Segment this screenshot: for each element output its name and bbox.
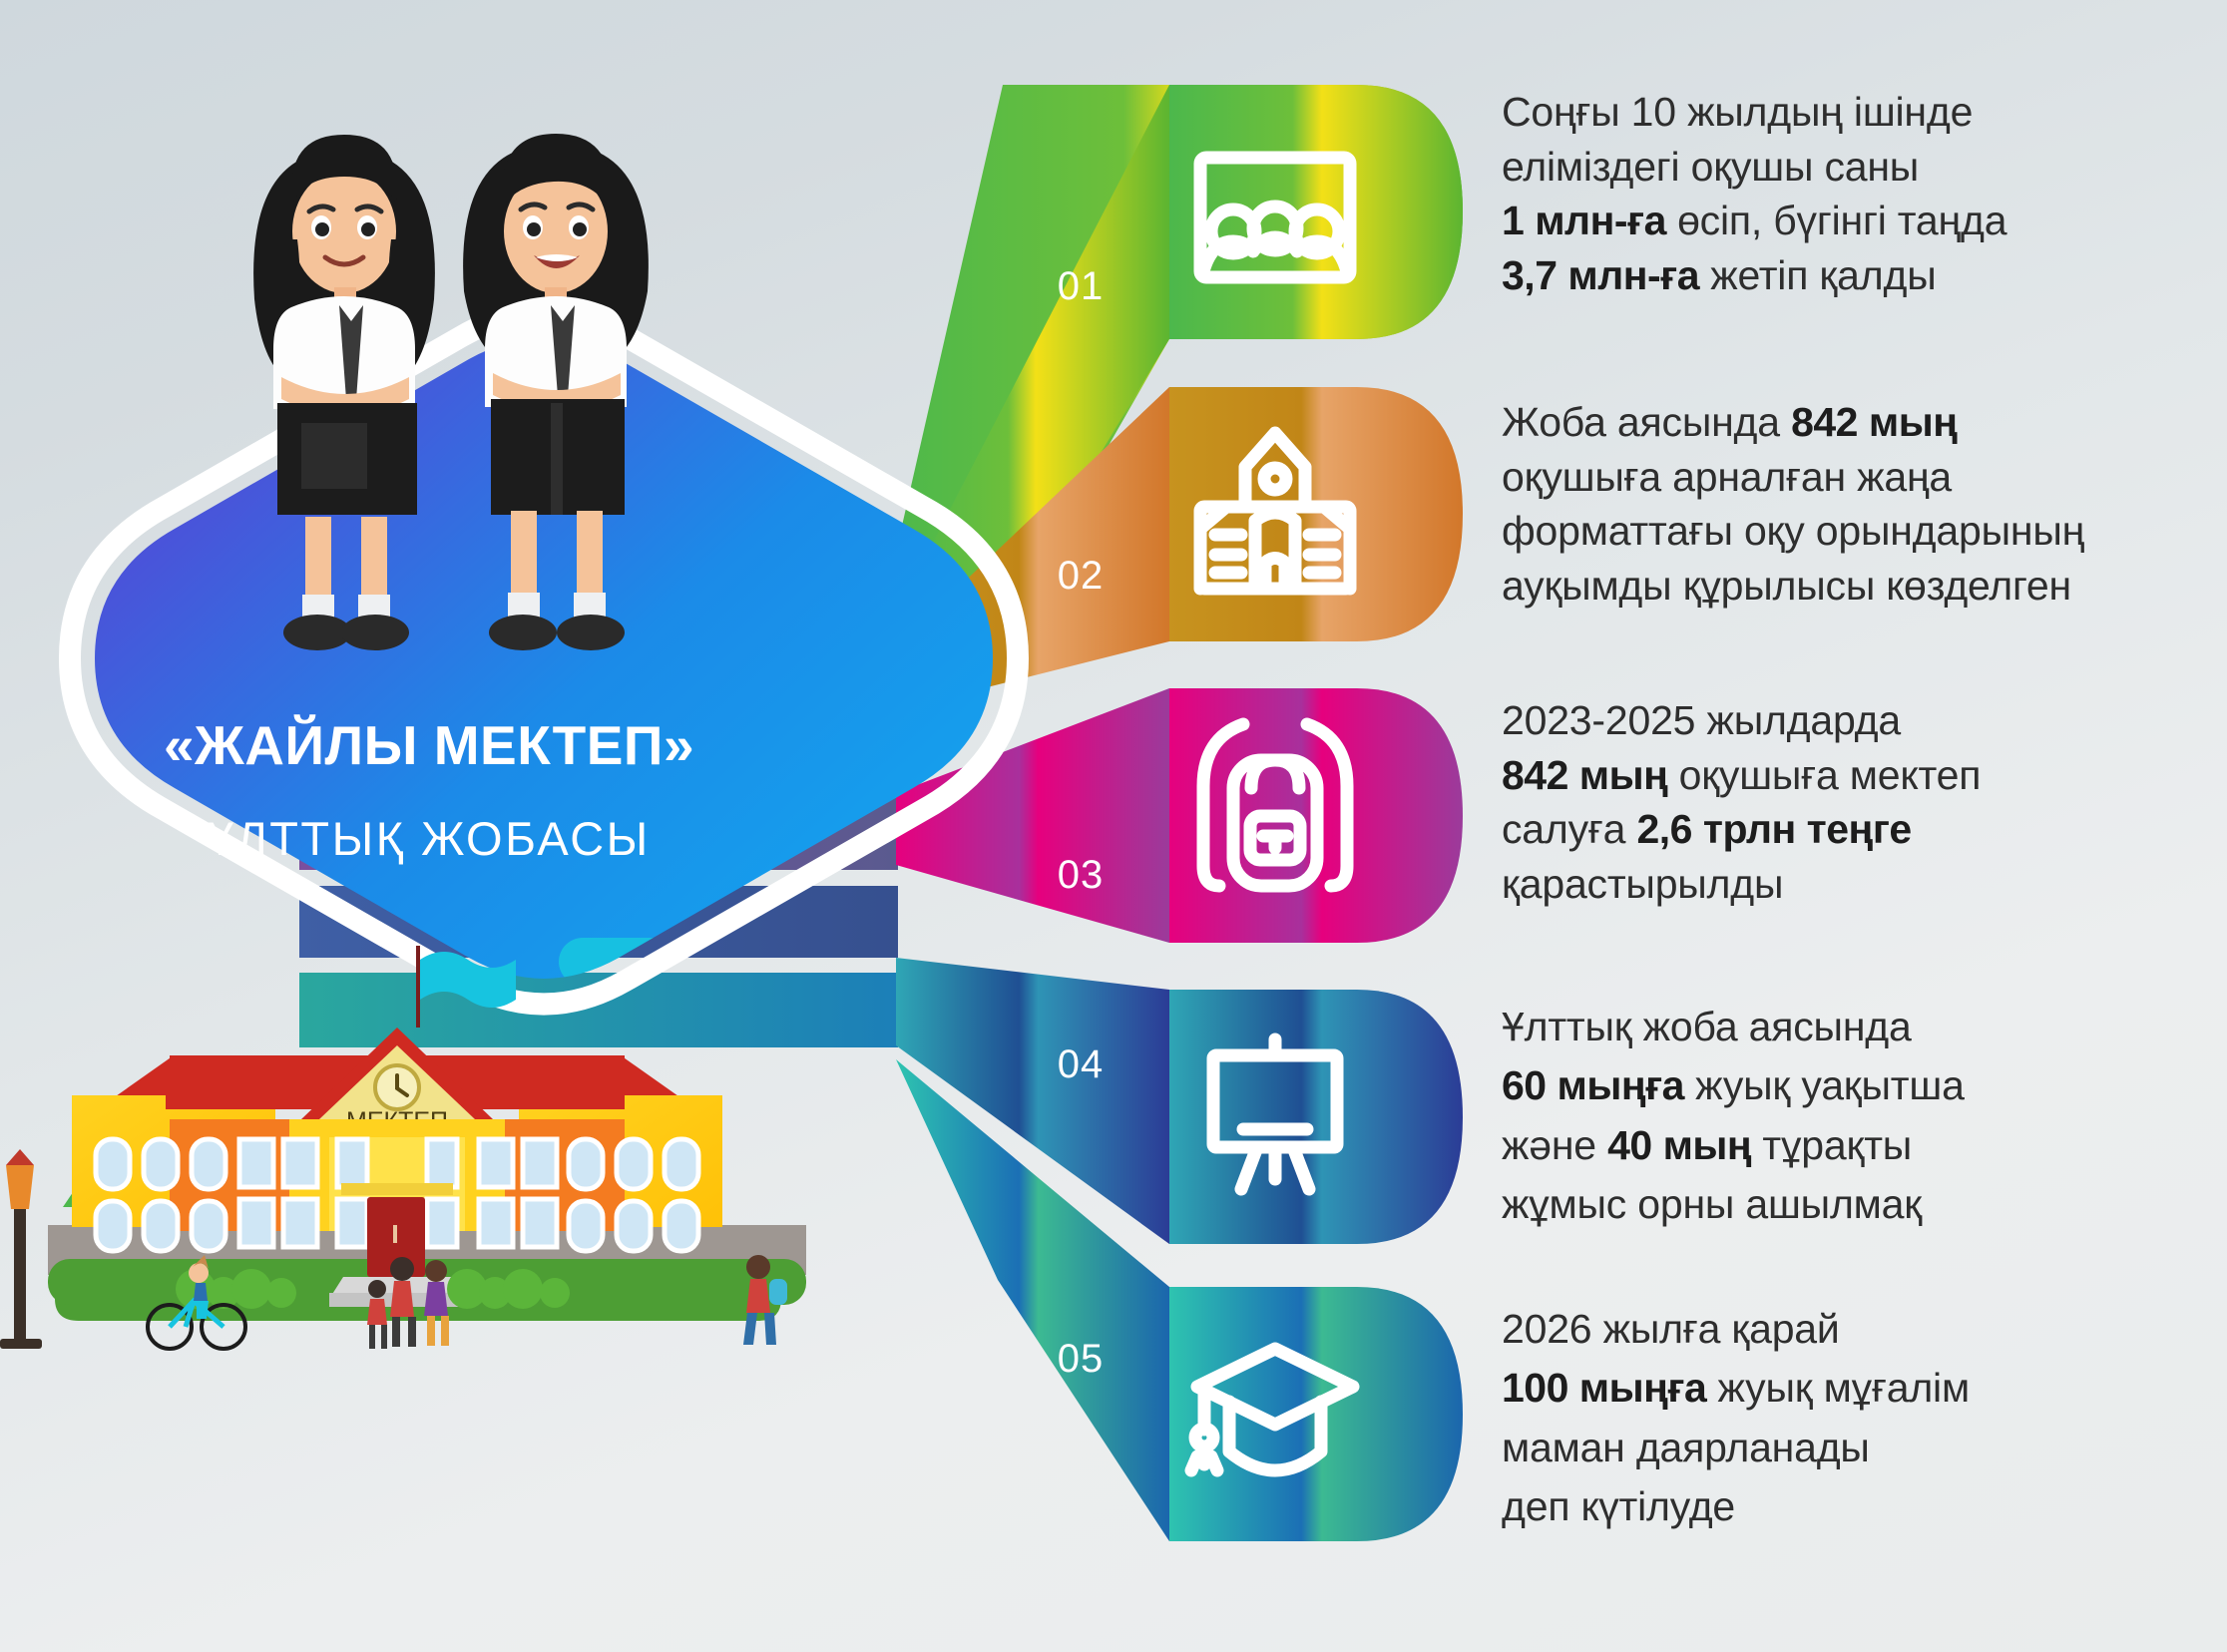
step-text-line: Соңғы 10 жылдың ішінде: [1502, 85, 2200, 140]
step-number-04: 04: [1058, 1042, 1105, 1086]
step-ribbons: 01 02 03 04: [878, 85, 1463, 1541]
step-text-03: 2023-2025 жылдарда842 мың оқушыға мектеп…: [1502, 693, 2200, 911]
step-text-line: салуға 2,6 трлн теңге: [1502, 802, 2200, 857]
step-number-03: 03: [1058, 853, 1105, 897]
step-text-line: 3,7 млн-ға жетіп қалды: [1502, 248, 2200, 303]
lamp-post-icon: [0, 1149, 42, 1349]
step-text-line: 2023-2025 жылдарда: [1502, 693, 2200, 748]
step-text-line: еліміздегі оқушы саны: [1502, 140, 2200, 195]
steps-text-column: Соңғы 10 жылдың ішіндееліміздегі оқушы с…: [1502, 0, 2200, 1652]
hero-title-sub: ҰЛТТЫҚ ЖОБАСЫ: [105, 811, 753, 866]
step-text-line: жұмыс орны ашылмақ: [1502, 1175, 2200, 1234]
step-text-line: Ұлттық жоба аясында: [1502, 998, 2200, 1056]
step-text-line: қарастырылды: [1502, 857, 2200, 912]
step-text-line: оқушыға арналған жаңа: [1502, 450, 2200, 505]
step-text-line: 1 млн-ға өсіп, бүгінгі таңда: [1502, 194, 2200, 248]
step-number-02: 02: [1058, 554, 1105, 598]
step-text-line: ауқымды құрылысы көзделген: [1502, 559, 2200, 614]
step-text-05: 2026 жылға қарай100 мыңға жуық мұғалімма…: [1502, 1300, 2200, 1537]
step-number-05: 05: [1058, 1337, 1105, 1381]
hero-title: «ЖАЙЛЫ МЕКТЕП» ҰЛТТЫҚ ЖОБАСЫ: [105, 713, 753, 866]
hero-title-main: «ЖАЙЛЫ МЕКТЕП»: [105, 713, 753, 777]
step-text-04: Ұлттық жоба аясында60 мыңға жуық уақытша…: [1502, 998, 2200, 1235]
step-text-line: 60 мыңға жуық уақытша: [1502, 1056, 2200, 1115]
step-text-line: маман даярланады: [1502, 1419, 2200, 1477]
step-text-line: деп күтілуде: [1502, 1477, 2200, 1536]
ribbon-03[interactable]: 03: [896, 688, 1463, 943]
step-text-line: 842 мың оқушыға мектеп: [1502, 748, 2200, 803]
step-text-line: 2026 жылға қарай: [1502, 1300, 2200, 1359]
step-text-line: Жоба аясында 842 мың: [1502, 395, 2200, 450]
step-text-02: Жоба аясында 842 мыңоқушыға арналған жаң…: [1502, 395, 2200, 613]
step-text-line: 100 мыңға жуық мұғалім: [1502, 1359, 2200, 1418]
step-text-line: және 40 мың тұрақты: [1502, 1116, 2200, 1175]
step-text-01: Соңғы 10 жылдың ішіндееліміздегі оқушы с…: [1502, 85, 2200, 302]
infographic-root: 01 02 03 04: [0, 0, 2227, 1652]
step-text-line: форматтағы оқу орындарының: [1502, 504, 2200, 559]
step-number-01: 01: [1058, 264, 1105, 308]
